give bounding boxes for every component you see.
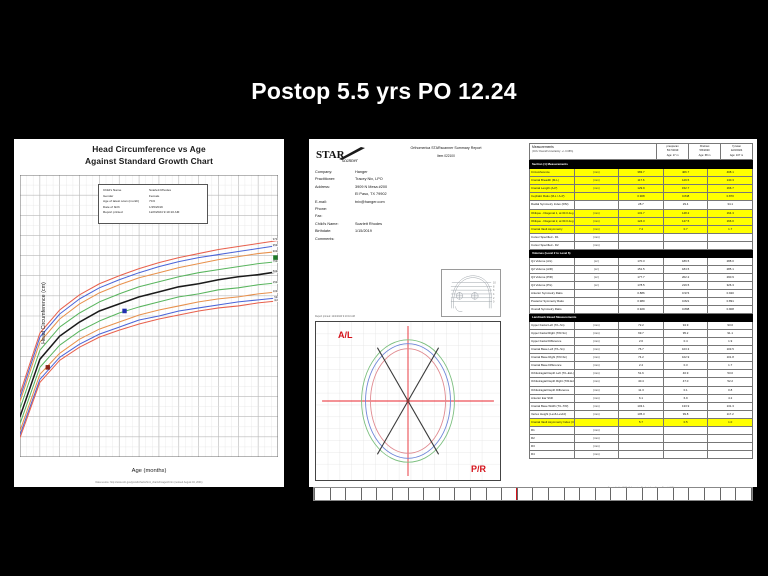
measurement-unit: (mm) xyxy=(574,386,619,394)
report-field-value: Scarlett Rhodes xyxy=(355,221,520,228)
measurement-unit: (mm) xyxy=(574,241,619,249)
starscanner-report-panel: STAR scanner Orthomerica STARscanner Sum… xyxy=(309,139,757,487)
table-row: Q2 Volume (A/R) (cc) 151.5184.5285.1 xyxy=(530,265,753,273)
measurement-label: R2 xyxy=(530,434,575,442)
measurement-unit: (mm) xyxy=(574,362,619,370)
svg-text:scanner: scanner xyxy=(342,159,358,164)
measurement-value-col1 xyxy=(619,241,664,249)
measurement-value-col1: 74.2 xyxy=(619,354,664,362)
measurement-value-col1: 28.7 xyxy=(619,201,664,209)
y-axis-label: Head Circumference (cm) xyxy=(41,282,47,344)
report-field-row: Company: Hanger xyxy=(315,169,520,176)
measurement-value-col3: 285.1 xyxy=(708,265,753,273)
ruler-tick xyxy=(704,488,705,500)
table-row: R2 (mm) xyxy=(530,434,753,442)
table-row: Anterior Symmetry Ratio 0.8860.9740.920 xyxy=(530,289,753,297)
ruler-marker xyxy=(516,488,517,500)
measurement-unit xyxy=(574,306,619,314)
measurement-value-col2: 47.0 xyxy=(663,378,708,386)
table-row: Orbitotragial Depth Left (TrL-ExL) (mm) … xyxy=(530,370,753,378)
measurement-unit: (mm) xyxy=(574,185,619,193)
measurement-label: Anterior Symmetry Ratio xyxy=(530,289,575,297)
ruler-tick xyxy=(376,488,377,500)
measurement-label: Orbitotragial Depth Difference xyxy=(530,386,575,394)
ruler-tick xyxy=(626,488,627,500)
measurement-label: Vertex Height (Lev6-Lev10) xyxy=(530,410,575,418)
report-document-left-column: STAR scanner Orthomerica STARscanner Sum… xyxy=(313,143,525,483)
ruler-tick xyxy=(439,488,440,500)
measurement-value-col2 xyxy=(663,450,708,458)
measurement-value-col3: 0.908 xyxy=(708,306,753,314)
report-field-value xyxy=(355,236,520,243)
table-row: Oblique - Diagonal 1, at 30.0 deg (mm) 1… xyxy=(530,209,753,217)
measurement-value-col1: 2.4 xyxy=(619,362,664,370)
measurement-value-col2: 0.3 xyxy=(663,362,708,370)
measurement-value-col1: 177.7 xyxy=(619,273,664,281)
shape-plot-label-anterior-left: A/L xyxy=(338,330,353,340)
ruler-tick xyxy=(564,488,565,500)
measurement-value-col1: 170.3 xyxy=(619,257,664,265)
report-field-key: Birthdate: xyxy=(315,228,355,235)
table-row: Vertex Height (Lev6-Lev10) (mm) 105.399.… xyxy=(530,410,753,418)
measurement-unit: (cc) xyxy=(574,281,619,289)
measurement-unit: (mm) xyxy=(574,354,619,362)
measurement-value-col2: 0.5 xyxy=(663,418,708,426)
measurement-unit: (mm) xyxy=(574,442,619,450)
table-row: Cursor Specified - D1 (mm) xyxy=(530,233,753,241)
measurement-value-col3: 0.891 xyxy=(708,298,753,306)
measurement-unit: (mm) xyxy=(574,177,619,185)
table-row: Upper Facial Difference (mm) 2.60.41.9 xyxy=(530,338,753,346)
scan-column-header-1: preopscan 5/17/2019 Age: 17 m xyxy=(657,144,689,160)
measurement-value-col3 xyxy=(708,442,753,450)
scan-age-1: Age: 17 m xyxy=(659,154,686,158)
measurement-value-col3: 103.5 xyxy=(708,346,753,354)
measurement-value-col2: 129.5 xyxy=(663,177,708,185)
starscanner-logo: STAR scanner xyxy=(315,145,367,165)
measurement-value-col2: 148.2 xyxy=(663,209,708,217)
measurement-unit: (mm) xyxy=(574,225,619,233)
measurement-unit: (mm) xyxy=(574,370,619,378)
measurements-table-header: Measurements (CCU Overall Uncertainty: +… xyxy=(529,143,753,160)
measurement-value-col2: 133.9 xyxy=(663,402,708,410)
measurement-value-col3: 131.3 xyxy=(708,402,753,410)
measurement-label: Q4 Volume (P/L) xyxy=(530,281,575,289)
table-row: Cranial Base Right (TrR-Sn) (mm) 74.2102… xyxy=(530,354,753,362)
ruler-tick xyxy=(501,488,502,500)
measurement-value-col1: 2.6 xyxy=(619,338,664,346)
measurement-value-col2: 6.9 xyxy=(663,394,708,402)
measurement-label: Oblique - Diagonal 2, at 30.0 deg xyxy=(530,217,575,225)
measurement-value-col1: 124.3 xyxy=(619,217,664,225)
measurement-value-col2: 46.9 xyxy=(663,370,708,378)
measurement-value-col3: 52.2 xyxy=(708,378,753,386)
measurement-value-col1: 76.7 xyxy=(619,346,664,354)
measurement-value-col1 xyxy=(619,434,664,442)
measurement-value-col2 xyxy=(663,434,708,442)
measurement-value-col1 xyxy=(619,426,664,434)
measurement-value-col3: 93.0 xyxy=(708,322,753,330)
growth-chart-panel: Head Circumference vs Age Against Standa… xyxy=(14,139,284,487)
table-row: Oblique - Diagonal 2, at 30.0 deg (mm) 1… xyxy=(530,217,753,225)
measurement-value-col1: 151.5 xyxy=(619,265,664,273)
measurement-value-col2: 0.7 xyxy=(663,225,708,233)
info-row: Report printed 12/2/2024 9:10:10 AM xyxy=(103,210,203,216)
measurement-value-col3 xyxy=(708,426,753,434)
ruler-tick xyxy=(735,488,736,500)
percentile-curves xyxy=(20,240,278,437)
report-field-row: El Paso, TX 79902 xyxy=(315,191,520,198)
measurement-label: Cranial Base Right (TrR-Sn) xyxy=(530,354,575,362)
measurement-unit: (mm) xyxy=(574,322,619,330)
measurement-value-col1 xyxy=(619,233,664,241)
ruler-tick xyxy=(345,488,346,500)
measurement-value-col3: 0.920 xyxy=(708,289,753,297)
ruler-tick xyxy=(392,488,393,500)
measurement-value-col3: 1.0 xyxy=(708,418,753,426)
measurement-unit xyxy=(574,193,619,201)
measurement-value-col1: 0.886 xyxy=(619,289,664,297)
measurement-value-col3: 34.1 xyxy=(708,201,753,209)
percentile-label-97th: 97th xyxy=(272,238,279,241)
report-header-title: Orthomerica STARscanner Summary Report xyxy=(373,146,519,150)
table-row: Cranial Base Left (TrL-Sn) (mm) 76.7103.… xyxy=(530,346,753,354)
measurement-value-col3: 91.1 xyxy=(708,330,753,338)
ruler-tick xyxy=(486,488,487,500)
table-row: Upper Facial Left (TrL-Sn) (mm) 72.294.9… xyxy=(530,322,753,330)
measurement-label: Q3 Volume (P/R) xyxy=(530,273,575,281)
table-row: Orbitotragial Depth Difference (mm) 11.3… xyxy=(530,386,753,394)
ruler-tick xyxy=(720,488,721,500)
scan-column-header-2: Xhelmet 5/5/2020 Age: 68 m xyxy=(689,144,721,160)
measurement-value-col1: 383.7 xyxy=(619,169,664,177)
table-row: R4 (mm) xyxy=(530,450,753,458)
measurement-value-col1: 0.908 xyxy=(619,193,664,201)
table-row: R3 (mm) xyxy=(530,442,753,450)
measurement-unit: (mm) xyxy=(574,434,619,442)
measurement-value-col1: 51.6 xyxy=(619,370,664,378)
measurement-unit: (cc) xyxy=(574,257,619,265)
measurement-value-col1: 5.7 xyxy=(619,418,664,426)
table-row: Cranial Vault Asymmetry Index (CVAI) 5.7… xyxy=(530,418,753,426)
table-row: Cranial Vault Asymmetry (mm) 7.40.71.7 xyxy=(530,225,753,233)
measurement-value-col1: 117.6 xyxy=(619,177,664,185)
measurement-label: Cursor Specified - D2 xyxy=(530,241,575,249)
measurement-label: Overall Symmetry Ratio xyxy=(530,306,575,314)
measurement-value-col1: 0.929 xyxy=(619,306,664,314)
page-ruler-strip xyxy=(313,487,753,501)
report-field-value: El Paso, TX 79902 xyxy=(355,191,520,198)
ruler-tick xyxy=(361,488,362,500)
table-row: Posterior Symmetry Ratio 0.9800.8210.891 xyxy=(530,298,753,306)
table-row: Cursor Specified - D2 (mm) xyxy=(530,241,753,249)
ruler-tick xyxy=(454,488,455,500)
head-profile-thumbnail: 108 64 20 xyxy=(441,269,501,317)
table-row: Cephalic Ratio (M-L / A-P) 0.9080.8480.8… xyxy=(530,193,753,201)
measurement-unit xyxy=(574,201,619,209)
measurement-value-col3: 166.7 xyxy=(708,185,753,193)
measurement-value-col1: 69.7 xyxy=(619,330,664,338)
table-section-header: Landmark Based Measurements xyxy=(530,314,753,322)
measurement-unit: (mm) xyxy=(574,378,619,386)
measurement-label: Cranial Breadth (M-L) xyxy=(530,177,575,185)
ruler-tick xyxy=(532,488,533,500)
chart-source-note: Data source: http://www.cdc.gov/growthch… xyxy=(21,481,278,484)
report-field-key: Company: xyxy=(315,169,355,176)
ruler-tick xyxy=(657,488,658,500)
report-field-row: Practitioner: Tracey Nix, LPO xyxy=(315,176,520,183)
measurement-value-col1: 7.4 xyxy=(619,225,664,233)
report-field-row: Fax: xyxy=(315,213,520,220)
measurement-value-col1: 131.7 xyxy=(619,209,664,217)
measurement-value-col1: 40.4 xyxy=(619,378,664,386)
measurement-value-col1: 11.3 xyxy=(619,386,664,394)
table-row: Cranial Length (A-P) (mm) 129.9152.7166.… xyxy=(530,185,753,193)
measurement-value-col2: 94.9 xyxy=(663,322,708,330)
measurement-unit: (mm) xyxy=(574,450,619,458)
scan-age-2: Age: 68 m xyxy=(691,154,718,158)
report-field-key xyxy=(315,191,355,198)
measurement-value-col3 xyxy=(708,450,753,458)
measurement-label: R4 xyxy=(530,450,575,458)
growth-chart-title: Head Circumference vs Age Against Standa… xyxy=(20,143,278,167)
measurement-value-col1: 103.1 xyxy=(619,402,664,410)
report-field-key: Practitioner: xyxy=(315,176,355,183)
measurement-unit: (mm) xyxy=(574,169,619,177)
head-shape-overlay-plot: A/L P/R xyxy=(315,321,501,481)
report-field-key: Child's Name: xyxy=(315,221,355,228)
measurement-value-col3: 166.0 xyxy=(708,217,753,225)
scan-column-header-3: 7yrscan 12/2/2024 Age: 107 m xyxy=(721,144,753,160)
measurements-table-container: Measurements (CCU Overall Uncertainty: +… xyxy=(529,143,753,483)
measurement-value-col1 xyxy=(619,442,664,450)
measurement-value-col2: 202.2 xyxy=(663,273,708,281)
table-row: Q1 Volume (A/L) (cc) 170.3189.5288.0 xyxy=(530,257,753,265)
measurement-label: Upper Facial Left (TrL-Sn) xyxy=(530,322,575,330)
ruler-tick xyxy=(688,488,689,500)
measurement-value-col2: 147.5 xyxy=(663,217,708,225)
report-field-value xyxy=(355,213,520,220)
measurement-value-col3: 164.3 xyxy=(708,209,753,217)
report-field-value: Tracey Nix, LPO xyxy=(355,176,520,183)
growth-chart-title-line2: Against Standard Growth Chart xyxy=(20,155,278,167)
report-field-value: Hanger xyxy=(355,169,520,176)
measurement-unit: (mm) xyxy=(574,426,619,434)
table-row: R1 (mm) xyxy=(530,426,753,434)
measurement-label: Orbitotragial Depth Left (TrL-ExL) xyxy=(530,370,575,378)
percentile-label-75th: 75th xyxy=(272,260,279,263)
section-label: Volumes (Level 2 to Level 6) xyxy=(530,249,753,257)
measurement-value-col1: 0.980 xyxy=(619,298,664,306)
measurement-value-col3: 140.3 xyxy=(708,177,753,185)
report-header-item-number: Item 022100 xyxy=(373,154,519,158)
ruler-tick xyxy=(751,488,752,500)
measurement-value-col2: 103.3 xyxy=(663,346,708,354)
report-field-row: Comments: xyxy=(315,236,520,243)
measurement-value-col3: 1.7 xyxy=(708,362,753,370)
measurement-unit: (mm) xyxy=(574,346,619,354)
measurement-unit: (cc) xyxy=(574,273,619,281)
measurement-unit: (mm) xyxy=(574,338,619,346)
report-field-key: Address: xyxy=(315,184,355,191)
report-field-value xyxy=(355,206,520,213)
measurement-label: Cranial Base Width (TrL-TrR) xyxy=(530,402,575,410)
percentile-label-90th: 90th xyxy=(272,250,279,253)
measurement-value-col2: 0.974 xyxy=(663,289,708,297)
measurement-unit xyxy=(574,298,619,306)
report-field-list: Company: Hanger Practitioner: Tracey Nix… xyxy=(315,169,520,243)
slide-title: Postop 5.5 yrs PO 12.24 xyxy=(0,78,768,105)
measurement-unit: (mm) xyxy=(574,217,619,225)
measurement-value-col3: 53.0 xyxy=(708,370,753,378)
ruler-tick xyxy=(595,488,596,500)
measurement-unit: (cc) xyxy=(574,265,619,273)
measurement-value-col2: 0.821 xyxy=(663,298,708,306)
table-row: Circumference (mm) 383.7406.7408.1 xyxy=(530,169,753,177)
report-field-row: Phone: xyxy=(315,206,520,213)
measurement-value-col3: 288.0 xyxy=(708,257,753,265)
measurement-value-col1: 105.3 xyxy=(619,410,664,418)
measurement-value-col2: 152.7 xyxy=(663,185,708,193)
measurement-label: Cranial Vault Asymmetry xyxy=(530,225,575,233)
measurement-unit: (mm) xyxy=(574,402,619,410)
percentile-label-50th: 50th xyxy=(272,270,279,273)
table-section-header: Section (1) Measurements xyxy=(530,161,753,169)
ruler-tick xyxy=(470,488,471,500)
measurement-label: Anterior Ear Shift xyxy=(530,394,575,402)
table-section-header: Volumes (Level 2 to Level 6) xyxy=(530,249,753,257)
measurement-label: R3 xyxy=(530,442,575,450)
measurement-value-col2 xyxy=(663,426,708,434)
measurement-label: Cranial Base Left (TrL-Sn) xyxy=(530,346,575,354)
ruler-tick xyxy=(642,488,643,500)
measurement-label: Cranial Base Difference xyxy=(530,362,575,370)
measurement-value-col1: 129.9 xyxy=(619,185,664,193)
ruler-tick xyxy=(548,488,549,500)
report-field-value: 1/15/2019 xyxy=(355,228,520,235)
shape-plot-label-posterior-right: P/R xyxy=(471,464,486,474)
ruler-tick xyxy=(408,488,409,500)
report-field-key: E-mail: xyxy=(315,199,355,206)
measurement-value-col1: 178.5 xyxy=(619,281,664,289)
table-row: Overall Symmetry Ratio 0.9290.8980.908 xyxy=(530,306,753,314)
scan-age-3: Age: 107 m xyxy=(723,154,750,158)
measurement-label: Cranial Vault Asymmetry Index (CVAI) xyxy=(530,418,575,426)
measurement-value-col2: 102.9 xyxy=(663,354,708,362)
table-row: Cranial Breadth (M-L) (mm) 117.6129.5140… xyxy=(530,177,753,185)
measurement-unit: (mm) xyxy=(574,233,619,241)
section-label: Section (1) Measurements xyxy=(530,161,753,169)
report-field-key: Comments: xyxy=(315,236,355,243)
report-field-row: E-mail: tnix@hanger.com xyxy=(315,199,520,206)
measurement-unit: (mm) xyxy=(574,209,619,217)
measurement-value-col2: 0.898 xyxy=(663,306,708,314)
measurement-value-col1 xyxy=(619,450,664,458)
info-value: 12/2/2024 9:10:10 AM xyxy=(149,210,203,216)
section-label: Landmark Based Measurements xyxy=(530,314,753,322)
measurement-label: Posterior Symmetry Ratio xyxy=(530,298,575,306)
measurement-value-col2: 0.848 xyxy=(663,193,708,201)
measurement-value-col3: 101.8 xyxy=(708,354,753,362)
ruler-tick xyxy=(610,488,611,500)
measurements-table-body: Section (1) Measurements Circumference (… xyxy=(529,160,753,459)
measurement-unit: (mm) xyxy=(574,410,619,418)
report-field-row: Address: 3909 N Mesa #200 xyxy=(315,184,520,191)
measurement-value-col1: 72.2 xyxy=(619,322,664,330)
measurement-value-col3 xyxy=(708,434,753,442)
measurements-corner-subtitle: (CCU Overall Uncertainty: +/- 0.08%) xyxy=(532,150,654,153)
measurement-value-col3 xyxy=(708,233,753,241)
table-row: Upper Facial Right (TrR-Sn) (mm) 69.795.… xyxy=(530,330,753,338)
measurement-value-col2: 406.7 xyxy=(663,169,708,177)
measurement-unit: (mm) xyxy=(574,394,619,402)
measurement-unit xyxy=(574,289,619,297)
report-field-value: tnix@hanger.com xyxy=(355,199,520,206)
measurement-label: Cranial Length (A-P) xyxy=(530,185,575,193)
percentile-label-3rd: 3rd xyxy=(273,299,279,302)
measurement-unit: (mm) xyxy=(574,330,619,338)
measurement-value-col3: 290.9 xyxy=(708,273,753,281)
patient-info-box: Child's Name Scarlett Rhodes Gender Fema… xyxy=(98,184,208,224)
report-field-key: Fax: xyxy=(315,213,355,220)
percentile-label-95th: 95th xyxy=(272,244,279,247)
table-row: Orbitotragial Depth Right (TrR-ExR) (mm)… xyxy=(530,378,753,386)
measurement-value-col2: 0.1 xyxy=(663,386,708,394)
report-field-key: Phone: xyxy=(315,206,355,213)
ruler-tick xyxy=(423,488,424,500)
table-row: Anterior Ear Shift (mm) 6.16.94.2 xyxy=(530,394,753,402)
growth-chart-title-line1: Head Circumference vs Age xyxy=(20,143,278,155)
measurement-label: Q1 Volume (A/L) xyxy=(530,257,575,265)
measurement-label: Upper Facial Difference xyxy=(530,338,575,346)
measurement-label: R1 xyxy=(530,426,575,434)
measurement-value-col2: 0.4 xyxy=(663,338,708,346)
ruler-tick xyxy=(579,488,580,500)
measurement-label: Upper Facial Right (TrR-Sn) xyxy=(530,330,575,338)
measurement-label: Radial Symmetry Index (RSI) xyxy=(530,201,575,209)
table-row: Q4 Volume (P/L) (cc) 178.5219.5326.3 xyxy=(530,281,753,289)
measurement-label: Cursor Specified - D1 xyxy=(530,233,575,241)
measurement-label: Q2 Volume (A/R) xyxy=(530,265,575,273)
measurement-value-col2: 29.4 xyxy=(663,201,708,209)
measurement-value-col3: 326.3 xyxy=(708,281,753,289)
measurement-value-col2 xyxy=(663,442,708,450)
measurement-label: Cephalic Ratio (M-L / A-P) xyxy=(530,193,575,201)
report-field-row: Birthdate: 1/15/2019 xyxy=(315,228,520,235)
measurements-corner-cell: Measurements (CCU Overall Uncertainty: +… xyxy=(530,144,657,160)
measurement-value-col2: 99.8 xyxy=(663,410,708,418)
shape-plot-caption: Report printed: 12/2/2024 9:10:10 AM xyxy=(315,315,355,318)
ruler-tick xyxy=(314,488,315,500)
measurement-value-col3: 117.2 xyxy=(708,410,753,418)
measurement-value-col1: 6.1 xyxy=(619,394,664,402)
measurement-value-col2: 219.5 xyxy=(663,281,708,289)
measurement-value-col3: 0.870 xyxy=(708,193,753,201)
x-axis-label: Age (months) xyxy=(14,468,284,474)
measurement-unit xyxy=(574,418,619,426)
measurement-label: Orbitotragial Depth Right (TrR-ExR) xyxy=(530,378,575,386)
measurement-value-col3: 1.9 xyxy=(708,338,753,346)
measurement-value-col2: 95.2 xyxy=(663,330,708,338)
measurement-value-col3: 1.7 xyxy=(708,225,753,233)
measurement-value-col3: 4.2 xyxy=(708,394,753,402)
measurement-label: Oblique - Diagonal 1, at 30.0 deg xyxy=(530,209,575,217)
measurement-value-col3: 408.1 xyxy=(708,169,753,177)
measurement-value-col2 xyxy=(663,241,708,249)
ruler-tick xyxy=(673,488,674,500)
measurement-value-col2 xyxy=(663,233,708,241)
table-row: Cranial Base Difference (mm) 2.40.31.7 xyxy=(530,362,753,370)
